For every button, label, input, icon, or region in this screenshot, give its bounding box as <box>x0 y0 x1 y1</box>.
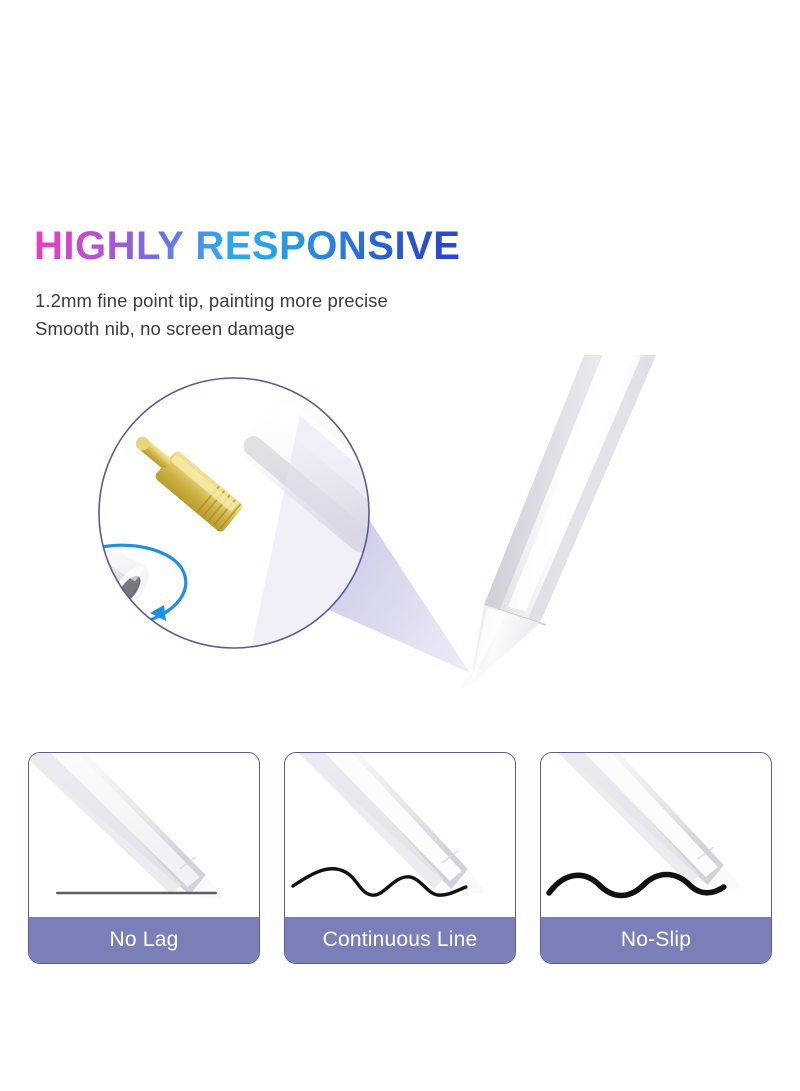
feature-panel-no-slip[interactable]: No-Slip <box>540 752 772 964</box>
panel-art-continuous-line <box>285 753 515 917</box>
rotation-arrow-head-top <box>86 561 100 577</box>
feature-caption-continuous-line: Continuous Line <box>285 917 515 963</box>
stylus-straight-line-icon <box>29 753 259 917</box>
feature-caption-no-slip: No-Slip <box>541 917 771 963</box>
subtitle-line-1: 1.2mm fine point tip, painting more prec… <box>35 287 388 315</box>
panel-art-no-lag <box>29 753 259 917</box>
feature-panels: No Lag <box>28 752 772 964</box>
page-title: HIGHLY RESPONSIVE <box>34 225 460 267</box>
hero-illustration <box>0 355 800 735</box>
feature-panel-no-lag[interactable]: No Lag <box>28 752 260 964</box>
product-feature-page: HIGHLY RESPONSIVE 1.2mm fine point tip, … <box>0 0 800 1091</box>
feature-caption-no-lag: No Lag <box>29 917 259 963</box>
stylus-continuous-line-icon <box>285 753 515 917</box>
panel-art-no-slip <box>541 753 771 917</box>
subtitle-block: 1.2mm fine point tip, painting more prec… <box>35 287 388 343</box>
stylus-pen-illustration <box>461 355 716 689</box>
feature-panel-continuous-line[interactable]: Continuous Line <box>284 752 516 964</box>
hero-svg <box>0 355 800 735</box>
subtitle-line-2: Smooth nib, no screen damage <box>35 315 388 343</box>
stylus-no-slip-icon <box>541 753 771 917</box>
